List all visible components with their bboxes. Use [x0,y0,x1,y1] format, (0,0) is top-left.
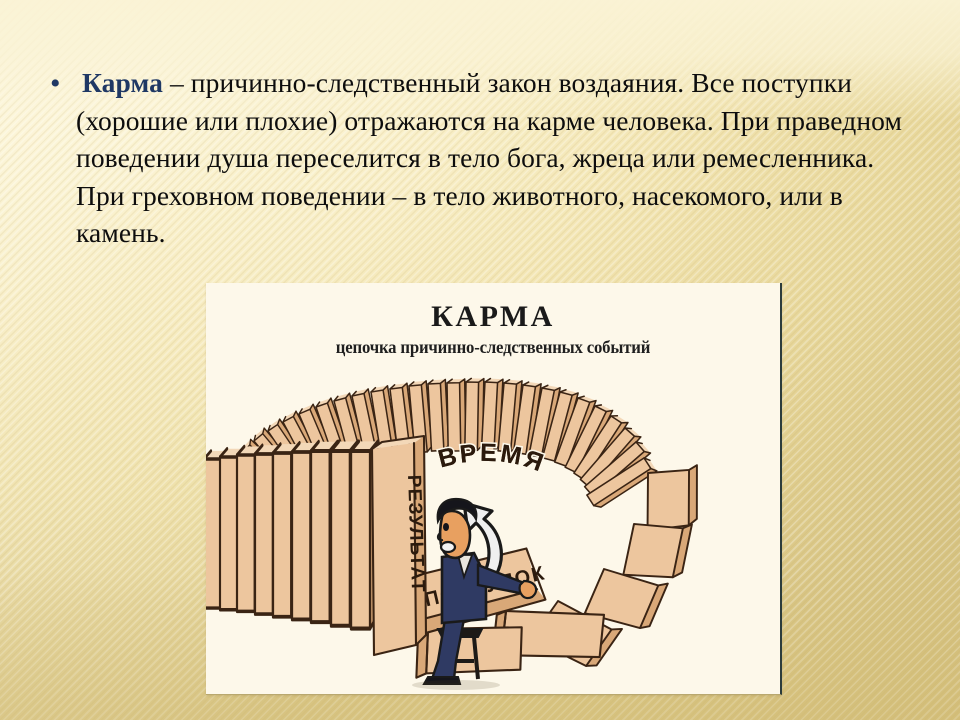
domino-front-wall: РЕЗУЛЬТАТ [206,436,428,655]
man-eye [443,523,449,531]
man-hand [520,581,537,598]
ground-shadow [412,680,500,690]
bullet-item: • Карма – причинно-следственный закон во… [44,64,916,252]
result-domino: РЕЗУЛЬТАТ [372,436,428,655]
result-label: РЕЗУЛЬТАТ [403,474,428,593]
term-definition: – причинно-следственный закон воздаяния.… [76,67,902,248]
illustration-subtitle: цепочка причинно-следственных событий [226,337,760,358]
illustration-title: КАРМА [206,300,780,334]
karma-illustration-frame: КАРМА цепочка причинно-следственных собы… [206,283,782,695]
illustration-canvas: КАРМА цепочка причинно-следственных собы… [206,283,780,694]
man-mouth [441,542,455,552]
bullet-paragraph: Карма – причинно-следственный закон возд… [76,64,916,252]
domino-fallen-bottom: ПОСТУПОК [401,546,610,694]
bullet-text-block: • Карма – причинно-следственный закон во… [44,64,916,252]
domino-ring-diagram: ПОСТУПОК [206,361,780,694]
slide-canvas: • Карма – причинно-следственный закон во… [0,0,960,720]
bullet-glyph-icon: • [44,64,76,104]
term-karma: Карма [82,67,163,98]
